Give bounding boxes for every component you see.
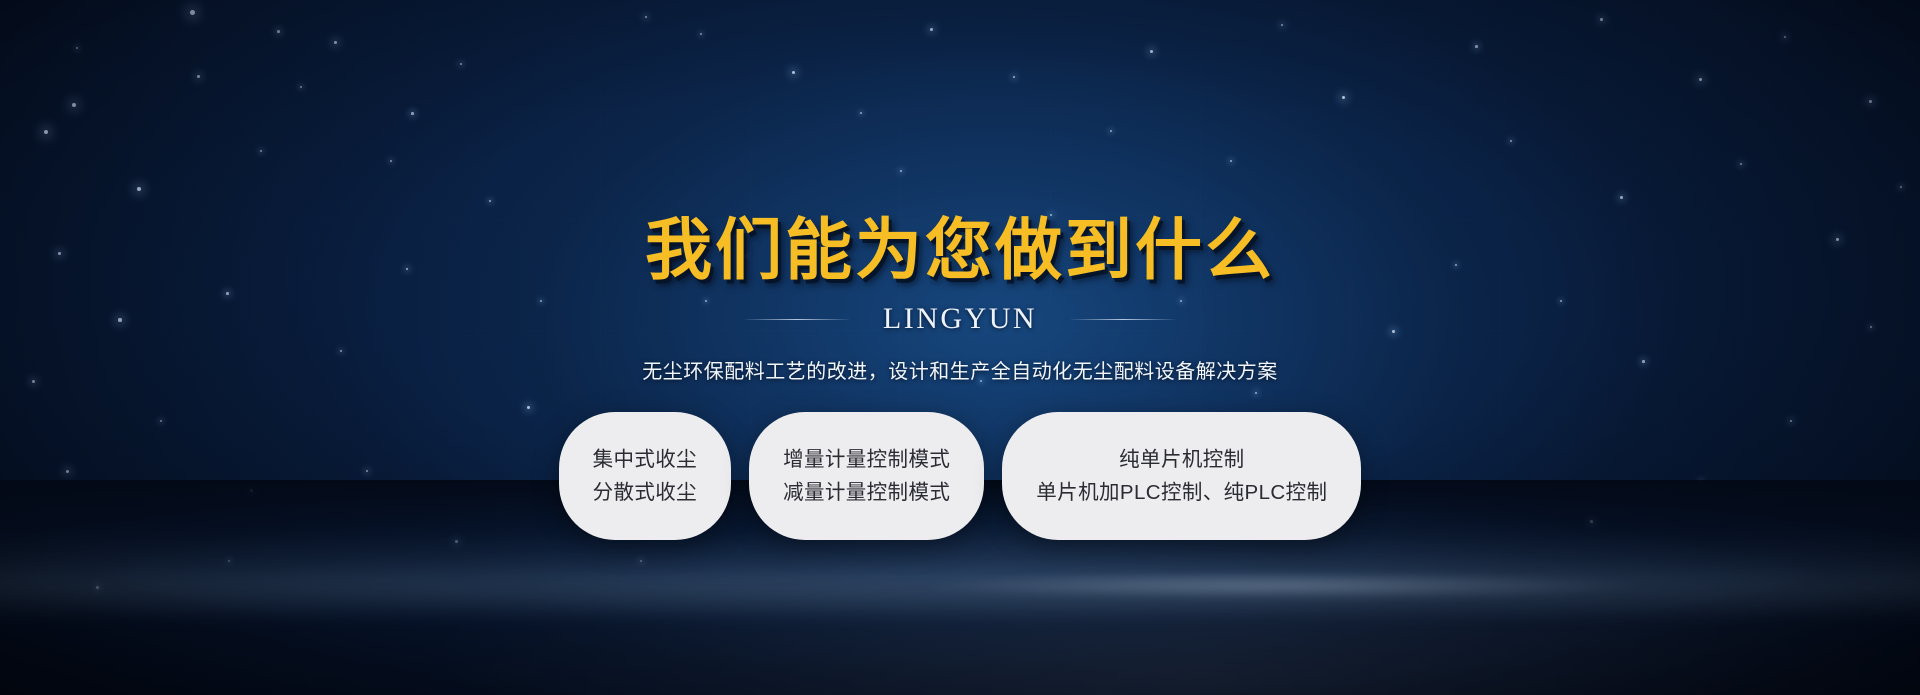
card-line-primary: 集中式收尘 bbox=[593, 448, 698, 472]
banner-description: 无尘环保配料工艺的改进，设计和生产全自动化无尘配料设备解决方案 bbox=[642, 355, 1278, 384]
card-line-secondary: 减量计量控制模式 bbox=[783, 481, 950, 505]
feature-card-metering-mode[interactable]: 增量计量控制模式 减量计量控制模式 bbox=[749, 412, 984, 540]
divider-line-right bbox=[1071, 319, 1175, 320]
banner-content: 我们能为您做到什么 LINGYUN 无尘环保配料工艺的改进，设计和生产全自动化无… bbox=[0, 0, 1920, 695]
card-line-primary: 增量计量控制模式 bbox=[783, 448, 950, 472]
card-line-secondary: 单片机加PLC控制、纯PLC控制 bbox=[1036, 481, 1327, 505]
feature-card-control-system[interactable]: 纯单片机控制 单片机加PLC控制、纯PLC控制 bbox=[1002, 412, 1361, 540]
banner-headline: 我们能为您做到什么 bbox=[645, 217, 1275, 284]
card-line-primary: 纯单片机控制 bbox=[1119, 448, 1244, 472]
feature-card-dust-collection[interactable]: 集中式收尘 分散式收尘 bbox=[559, 412, 732, 540]
banner-subtitle-en: LINGYUN bbox=[883, 302, 1037, 336]
banner-subtitle-row: LINGYUN bbox=[745, 302, 1175, 336]
hero-banner: 我们能为您做到什么 LINGYUN 无尘环保配料工艺的改进，设计和生产全自动化无… bbox=[0, 0, 1920, 695]
divider-line-left bbox=[745, 319, 849, 320]
card-line-secondary: 分散式收尘 bbox=[593, 481, 698, 505]
feature-card-list: 集中式收尘 分散式收尘 增量计量控制模式 减量计量控制模式 纯单片机控制 单片机… bbox=[559, 412, 1362, 540]
